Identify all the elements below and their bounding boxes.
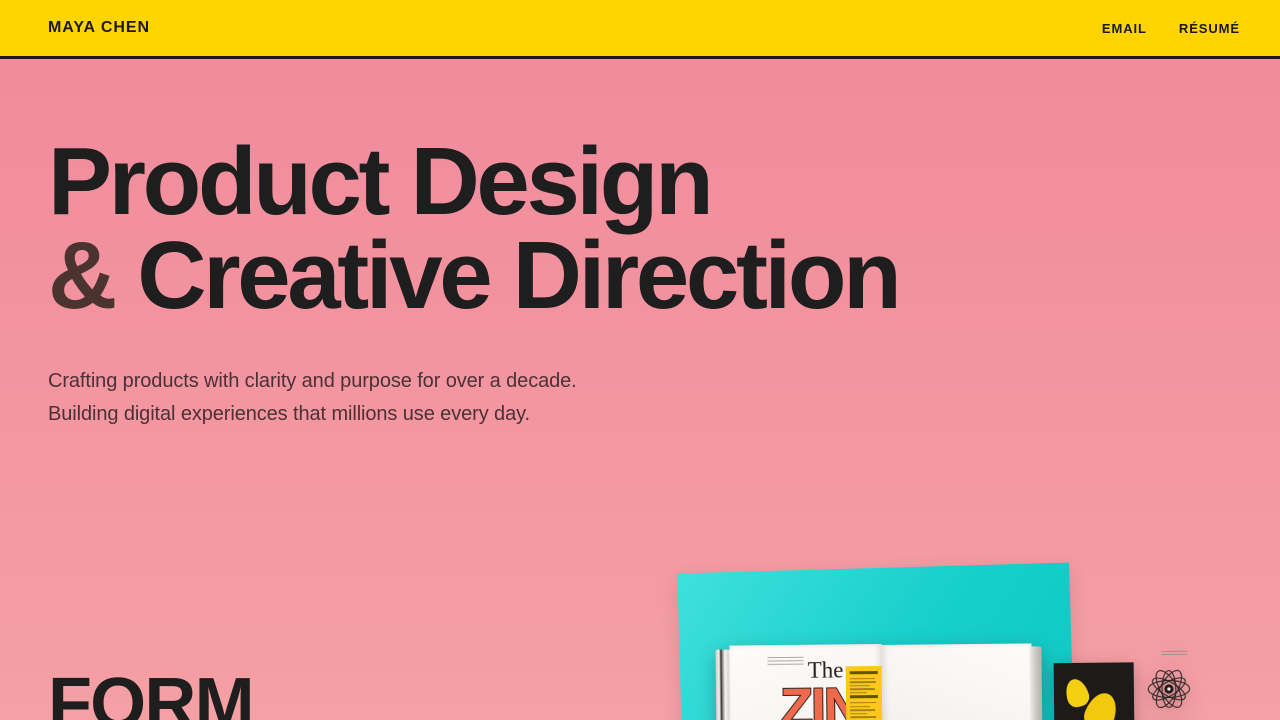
magazine-left-page: The ZIN	[729, 644, 882, 720]
sidebar-text-rule	[850, 716, 876, 718]
hero-title-line-2: Creative Direction	[137, 222, 898, 329]
magazine-right-page-edge	[1029, 646, 1042, 720]
sidebar-text-rule	[850, 709, 875, 711]
sidebar-text-rule	[850, 702, 876, 704]
nav-link-email[interactable]: EMAIL	[1102, 21, 1147, 36]
hero-subtitle-line-2: Building digital experiences that millio…	[48, 398, 1280, 430]
sidebar-text-rule	[850, 685, 870, 687]
hero-subtitle-line-1: Crafting products with clarity and purpo…	[48, 365, 1280, 397]
sidebar-text-rule	[850, 678, 875, 680]
hero-title-line-1: Product Design	[48, 128, 710, 235]
magazine-kicker-lines	[768, 657, 804, 665]
open-magazine: The ZIN	[715, 642, 1042, 720]
magazine-black-photo-panel	[1054, 662, 1135, 720]
nav-link-resume[interactable]: RÉSUMÉ	[1179, 21, 1240, 36]
sidebar-text-rule	[850, 688, 875, 690]
brand-logo[interactable]: MAYA CHEN	[48, 19, 150, 37]
magazine-yellow-sidebar	[846, 666, 883, 720]
page-title: Product Design & Creative Direction	[48, 135, 1280, 323]
sidebar-text-rule	[850, 681, 876, 683]
primary-nav: EMAIL RÉSUMÉ	[1102, 21, 1240, 36]
hero-title-ampersand: &	[48, 222, 114, 329]
magazine-right-page	[881, 643, 1032, 720]
magazine-folio-lines	[1162, 651, 1188, 657]
site-header: MAYA CHEN EMAIL RÉSUMÉ	[0, 0, 1280, 59]
section-heading-form: FORM	[48, 668, 253, 720]
hero-section: Product Design & Creative Direction Craf…	[0, 59, 1280, 430]
hero-subtitle: Crafting products with clarity and purpo…	[48, 365, 1280, 430]
atom-diagram-icon	[1146, 666, 1192, 712]
sidebar-text-rule	[850, 692, 867, 694]
sidebar-text-rule	[850, 706, 870, 708]
sidebar-text-rule	[850, 713, 867, 715]
sidebar-heading-rule	[850, 671, 878, 674]
magazine-photo: The ZIN	[640, 540, 1160, 720]
sidebar-heading-rule	[850, 695, 878, 698]
